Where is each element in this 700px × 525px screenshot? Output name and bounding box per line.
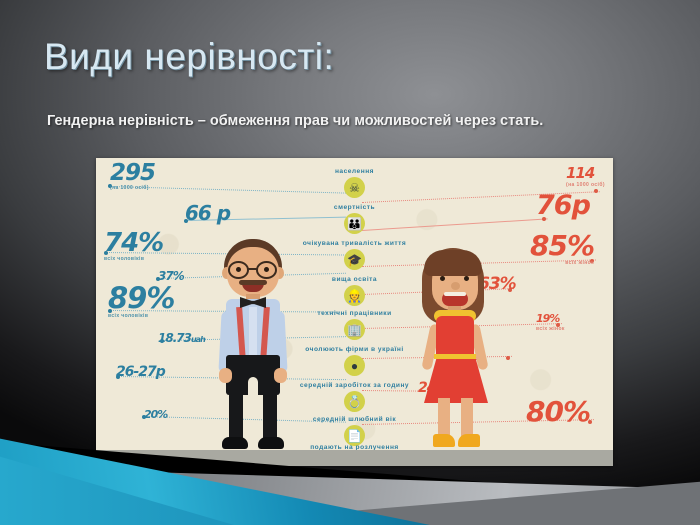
- male-value-5: 18.73uah: [158, 330, 205, 346]
- female-value-7: 80%: [526, 398, 590, 426]
- wedding-ring-icon: 💍: [344, 391, 365, 412]
- coins-icon: ●: [344, 355, 365, 376]
- female-value-2: 85% всіх жінок: [530, 232, 594, 266]
- slide-bottom-decoration: [0, 435, 700, 525]
- slide: Види нерівності: Гендерна нерівність – о…: [0, 0, 700, 525]
- technical-worker-icon: 👷: [344, 285, 365, 306]
- center-label-population: населення ☠: [240, 168, 470, 198]
- male-value-7: 20%: [144, 406, 167, 422]
- female-value-0: 114 (на 1000 осіб): [566, 166, 605, 188]
- center-label-mortality: смертність 👪: [240, 204, 470, 234]
- male-value-2: 74% всіх чоловіків: [104, 230, 163, 262]
- page-title: Види нерівності:: [44, 36, 334, 78]
- gender-inequality-infographic: 295 (на 1000 осіб) 66 р 74% всіх чоловік…: [96, 158, 613, 466]
- endpoint-dot-female-0: [594, 189, 598, 193]
- female-value-1: 76р: [536, 192, 590, 219]
- population-skull-icon: ☠: [344, 177, 365, 198]
- male-figure-illustration: [204, 237, 300, 453]
- office-building-icon: 🏢: [344, 319, 365, 340]
- female-figure-illustration: [406, 248, 502, 453]
- female-value-4: 19% всіх жінок: [536, 310, 565, 332]
- mortality-icon: 👪: [344, 213, 365, 234]
- page-subtitle: Гендерна нерівність – обмеження прав чи …: [47, 113, 543, 129]
- graduation-cap-icon: 🎓: [344, 249, 365, 270]
- male-value-1: 66 р: [185, 203, 230, 224]
- male-value-4: 89% всіх чоловіків: [108, 284, 174, 319]
- endpoint-dot-female-5: [506, 356, 510, 360]
- male-value-6: 26-27р: [116, 364, 165, 380]
- male-value-0: 295 (на 1000 осіб): [110, 162, 155, 191]
